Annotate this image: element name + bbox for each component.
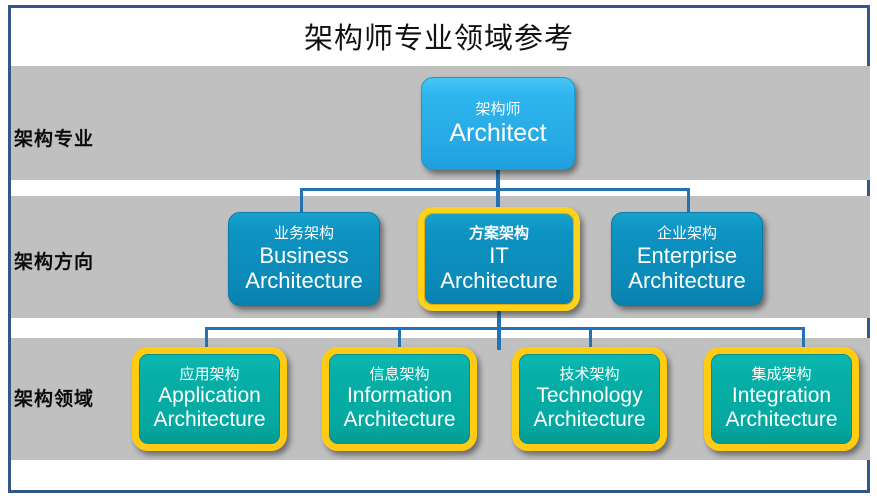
node-application-architecture-en-2: Architecture — [153, 408, 265, 432]
node-technology-architecture[interactable]: 技术架构 Technology Architecture — [512, 347, 667, 451]
node-integration-architecture-cn: 集成架构 — [751, 366, 811, 383]
node-information-architecture-en-2: Architecture — [343, 408, 455, 432]
node-business-architecture-en-2: Architecture — [245, 268, 362, 293]
node-integration-architecture-en-1: Integration — [732, 384, 831, 408]
node-information-architecture[interactable]: 信息架构 Information Architecture — [322, 347, 477, 451]
node-business-architecture-en-1: Business — [259, 243, 348, 268]
diagram-canvas: 架构师专业领域参考 架构专业 架构方向 架构领域 架构师 Architect 业… — [0, 0, 877, 499]
row-label-direction: 架构方向 — [14, 247, 94, 274]
node-it-architecture-en-1: IT — [489, 243, 509, 268]
node-enterprise-architecture-en-2: Architecture — [628, 268, 745, 293]
row-label-domain: 架构领域 — [14, 384, 94, 411]
node-technology-architecture-cn: 技术架构 — [559, 366, 619, 383]
connector-direction-bus — [300, 188, 690, 191]
node-architect[interactable]: 架构师 Architect — [421, 77, 575, 170]
node-business-architecture[interactable]: 业务架构 Business Architecture — [228, 212, 380, 306]
node-information-architecture-cn: 信息架构 — [369, 366, 429, 383]
node-enterprise-architecture[interactable]: 企业架构 Enterprise Architecture — [611, 212, 763, 306]
node-architect-cn: 架构师 — [475, 101, 520, 118]
node-application-architecture-en-1: Application — [158, 384, 261, 408]
node-technology-architecture-en-1: Technology — [536, 384, 642, 408]
row-label-specialty: 架构专业 — [14, 124, 94, 151]
connector-domain-bus — [205, 327, 805, 330]
node-it-architecture-cn: 方案架构 — [469, 225, 529, 242]
node-it-architecture-en-2: Architecture — [440, 268, 557, 293]
node-integration-architecture[interactable]: 集成架构 Integration Architecture — [704, 347, 859, 451]
node-information-architecture-en-1: Information — [347, 384, 452, 408]
node-integration-architecture-en-2: Architecture — [725, 408, 837, 432]
node-application-architecture-cn: 应用架构 — [179, 366, 239, 383]
node-enterprise-architecture-cn: 企业架构 — [657, 225, 717, 242]
node-it-architecture[interactable]: 方案架构 IT Architecture — [418, 207, 580, 311]
node-enterprise-architecture-en-1: Enterprise — [637, 243, 737, 268]
page-title: 架构师专业领域参考 — [11, 8, 867, 63]
node-application-architecture[interactable]: 应用架构 Application Architecture — [132, 347, 287, 451]
node-technology-architecture-en-2: Architecture — [533, 408, 645, 432]
node-business-architecture-cn: 业务架构 — [274, 225, 334, 242]
node-architect-en: Architect — [449, 119, 546, 147]
